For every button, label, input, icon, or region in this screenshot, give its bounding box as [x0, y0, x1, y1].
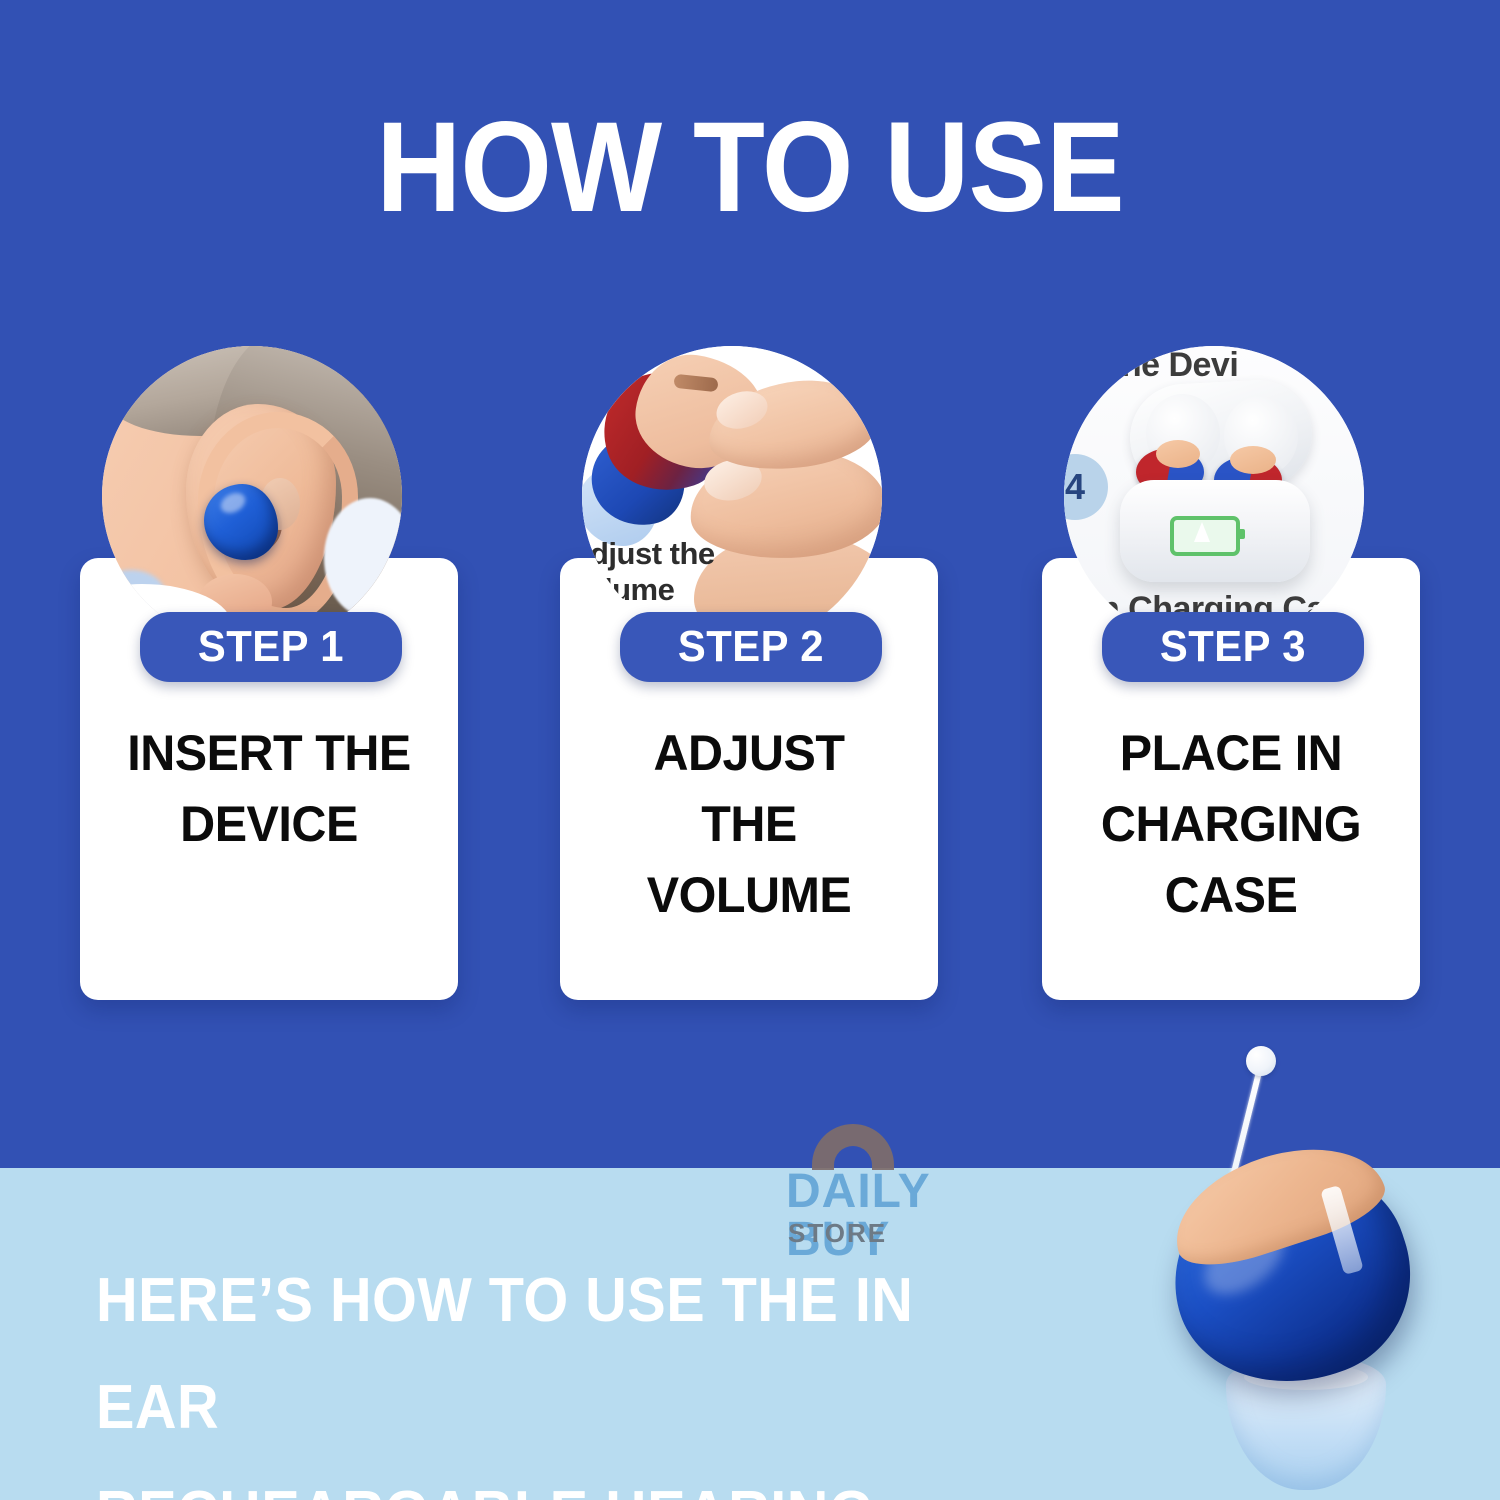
step-3-badge[interactable]: STEP 3: [1102, 612, 1364, 682]
brand-logo-name: DAILY BUY: [786, 1168, 1026, 1264]
step-1-heading: INSERT THE DEVICE: [80, 718, 458, 860]
brand-logo-subtitle: STORE: [788, 1220, 887, 1246]
charging-case-photo: the Devi 4 in Charging Ca: [1064, 346, 1364, 646]
step-3-heading-line-3: CASE: [1048, 860, 1415, 931]
brand-logo: DAILY BUY STORE: [786, 1124, 1026, 1248]
step-1-heading-line-1: INSERT THE: [86, 718, 453, 789]
step-2-heading-line-2: THE: [566, 789, 933, 860]
step-card-3: the Devi 4 in Charging Ca STEP 3: [1022, 0, 1442, 1050]
photo-2-overlay-text-1: djust the: [590, 536, 715, 572]
step-2-badge-label: STEP 2: [678, 625, 824, 669]
step-1-badge-label: STEP 1: [198, 625, 344, 669]
step-card-1: STEP 1 INSERT THE DEVICE: [60, 0, 480, 1050]
step-3-heading-line-2: CHARGING: [1048, 789, 1415, 860]
hearing-aid-right-faceplate: [1230, 446, 1276, 474]
step-1-heading-line-2: DEVICE: [86, 789, 453, 860]
infographic-page: HOW TO USE: [0, 0, 1500, 1500]
step-3-heading: PLACE IN CHARGING CASE: [1042, 718, 1420, 931]
step-3-heading-line-1: PLACE IN: [1048, 718, 1415, 789]
fingers-adjusting-device-photo: djust the lume: [582, 346, 882, 646]
step-2-heading-line-3: VOLUME: [566, 860, 933, 931]
footer-line-2: RECHEARGABLE HEARING AIDS: [96, 1461, 1026, 1500]
photo-2-overlay-text-2: lume: [604, 572, 674, 608]
removal-wire-ball-tip: [1246, 1046, 1276, 1076]
step-3-badge-label: STEP 3: [1160, 625, 1306, 669]
ear-with-hearing-aid-photo: [102, 346, 402, 646]
step-2-badge[interactable]: STEP 2: [620, 612, 882, 682]
footer-text: HERE’S HOW TO USE THE IN EAR RECHEARGABL…: [96, 1248, 1096, 1500]
step-2-heading-line-1: ADJUST: [566, 718, 933, 789]
in-ear-rechargeable-hearing-aid: [1146, 1038, 1500, 1500]
steps-container: STEP 1 INSERT THE DEVICE: [0, 0, 1500, 1090]
step-3-photo: the Devi 4 in Charging Ca: [1064, 346, 1364, 646]
step-2-heading: ADJUST THE VOLUME: [560, 718, 938, 931]
arch-icon: [812, 1124, 894, 1170]
step-1-photo: [102, 346, 402, 646]
hearing-aid-left-faceplate: [1156, 440, 1200, 468]
footer-line-1: HERE’S HOW TO USE THE IN EAR: [96, 1248, 1026, 1461]
step-card-2: djust the lume STEP 2 ADJUST THE VOLUME: [540, 0, 960, 1050]
photo-3-overlay-text-top: the Devi: [1110, 346, 1238, 385]
step-2-photo: djust the lume: [582, 346, 882, 646]
battery-bolt-icon: [1194, 522, 1210, 542]
step-1-badge[interactable]: STEP 1: [140, 612, 402, 682]
